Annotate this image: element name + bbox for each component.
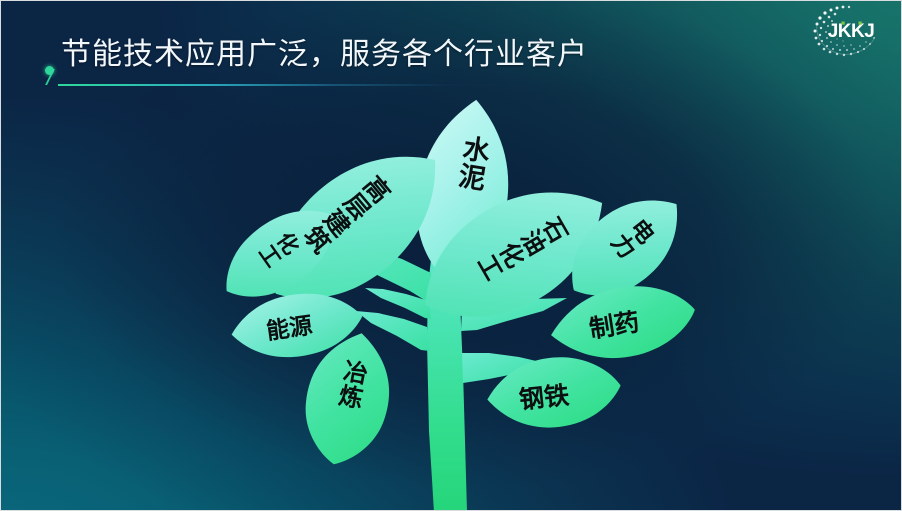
page-title: 节能技术应用广泛，服务各个行业客户 — [61, 35, 588, 75]
logo-dot-right — [859, 22, 862, 25]
slide-title-group: 节能技术应用广泛，服务各个行业客户 — [45, 35, 685, 95]
logo-wordmark: JKKJ — [828, 21, 875, 42]
title-underline — [58, 84, 500, 86]
jkkj-logo: JKKJ — [811, 4, 885, 58]
logo-dot-left — [842, 22, 845, 25]
slide-canvas: 水泥 高层建筑 化工 能源 冶炼 石油化工 电力 制药 钢铁 节能技术应用广泛，… — [0, 0, 902, 511]
